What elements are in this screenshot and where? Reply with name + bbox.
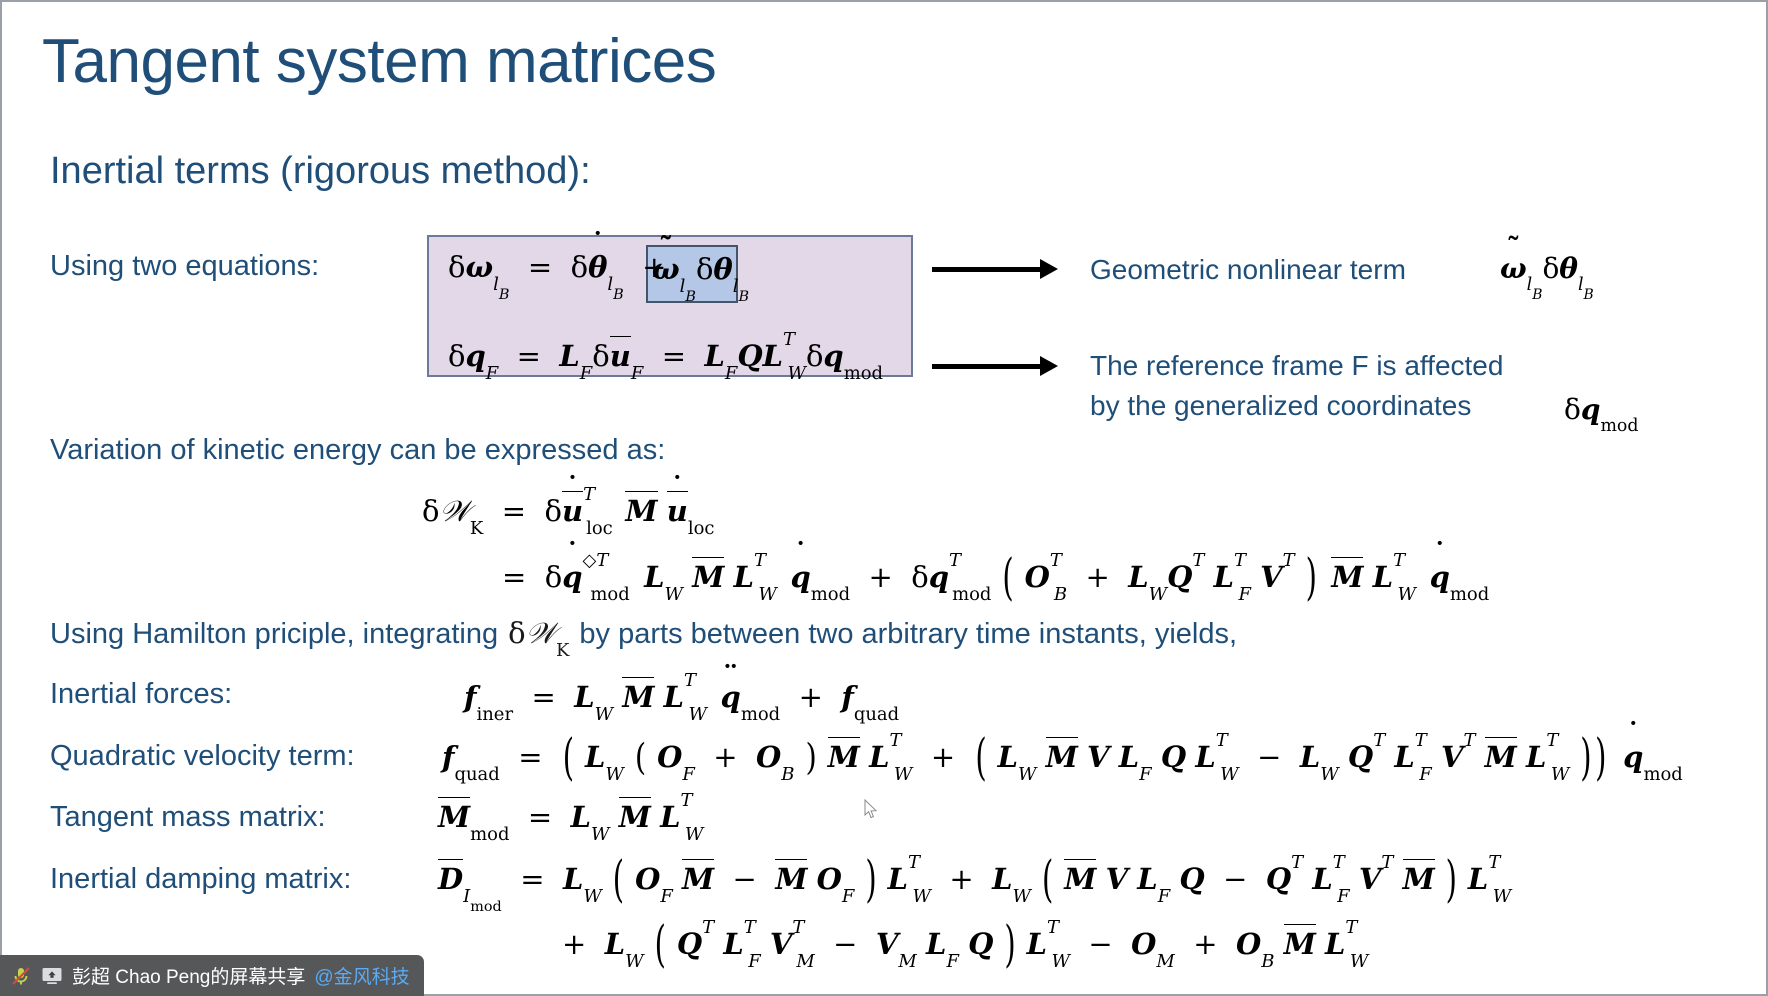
label-variation-kinetic-energy: Variation of kinetic energy can be expre… — [50, 434, 665, 467]
equation-boxed-1: δωlB = δθlB + — [448, 250, 676, 284]
callout-geometric-nonlinear-formula: ωlBδθlB — [1500, 252, 1594, 285]
slide-title: Tangent system matrices — [42, 26, 716, 97]
microphone-muted-icon[interactable] — [10, 965, 32, 987]
equation-tangent-mass-matrix: Mmod = LW M LTW — [438, 800, 703, 834]
equation-quadratic-velocity: fquad = ( LW ( OF + OB ) M LTW + ( LW M … — [442, 740, 1683, 774]
callout-reference-frame-line2: by the generalized coordinates — [1090, 387, 1471, 425]
label-quadratic-velocity-term: Quadratic velocity term: — [50, 740, 355, 773]
taskbar-org-label: @金风科技 — [314, 962, 409, 989]
arrow-to-reference-frame — [932, 364, 1044, 369]
hamilton-pre-text: Using Hamilton priciple, integrating — [50, 618, 498, 650]
callout-geometric-nonlinear: Geometric nonlinear term — [1090, 251, 1406, 289]
callout-reference-frame-line2-text: by the generalized coordinates — [1090, 390, 1471, 421]
label-inertial-damping-matrix: Inertial damping matrix: — [50, 863, 351, 896]
callout-delta-q-mod-formula: δqmod — [1564, 393, 1638, 426]
slide-subtitle: Inertial terms (rigorous method): — [50, 150, 591, 193]
equation-kinetic-line1: δ𝒲K = δuTloc M uloc — [422, 494, 714, 529]
screen-share-taskbar[interactable]: 彭超 Chao Peng的屏幕共享 @金风科技 — [0, 955, 424, 996]
hamilton-post-text: by parts between two arbitrary time inst… — [579, 618, 1237, 650]
hamilton-delta-wk: δ𝒲K — [508, 616, 569, 650]
equation-highlighted-term: ωlBδθlB — [652, 252, 749, 286]
label-tangent-mass-matrix: Tangent mass matrix: — [50, 801, 326, 834]
equation-inertial-damping-line2: + LW ( QT LTF VTM − VM LF Q ) LTW − OM +… — [562, 927, 1368, 961]
label-hamilton-principle: Using Hamilton priciple, integratingδ𝒲Kb… — [50, 616, 1237, 651]
screen-share-icon[interactable] — [41, 966, 63, 986]
label-inertial-forces: Inertial forces: — [50, 678, 232, 711]
equation-kinetic-line2: = δq◇Tmod LW M LTW qmod + δqTmod ( OTB +… — [502, 560, 1489, 594]
taskbar-presenter-label: 彭超 Chao Peng的屏幕共享 — [72, 962, 305, 989]
label-using-two-equations: Using two equations: — [50, 250, 319, 283]
callout-geometric-nonlinear-text: Geometric nonlinear term — [1090, 254, 1406, 285]
callout-reference-frame-line1: The reference frame F is affected — [1090, 347, 1503, 385]
mouse-cursor — [864, 799, 878, 819]
equation-boxed-2: δqF = LFδuF = LFQLTWδqmod — [448, 339, 883, 373]
arrow-to-geometric-nonlinear — [932, 267, 1044, 272]
presentation-slide: Tangent system matrices Inertial terms (… — [0, 0, 1768, 996]
equation-inertial-forces: finer = LW M LTW qmod + fquad — [464, 680, 899, 714]
equation-inertial-damping-line1: DImod = LW ( OF M − M OF ) LTW + LW ( M … — [438, 862, 1511, 896]
